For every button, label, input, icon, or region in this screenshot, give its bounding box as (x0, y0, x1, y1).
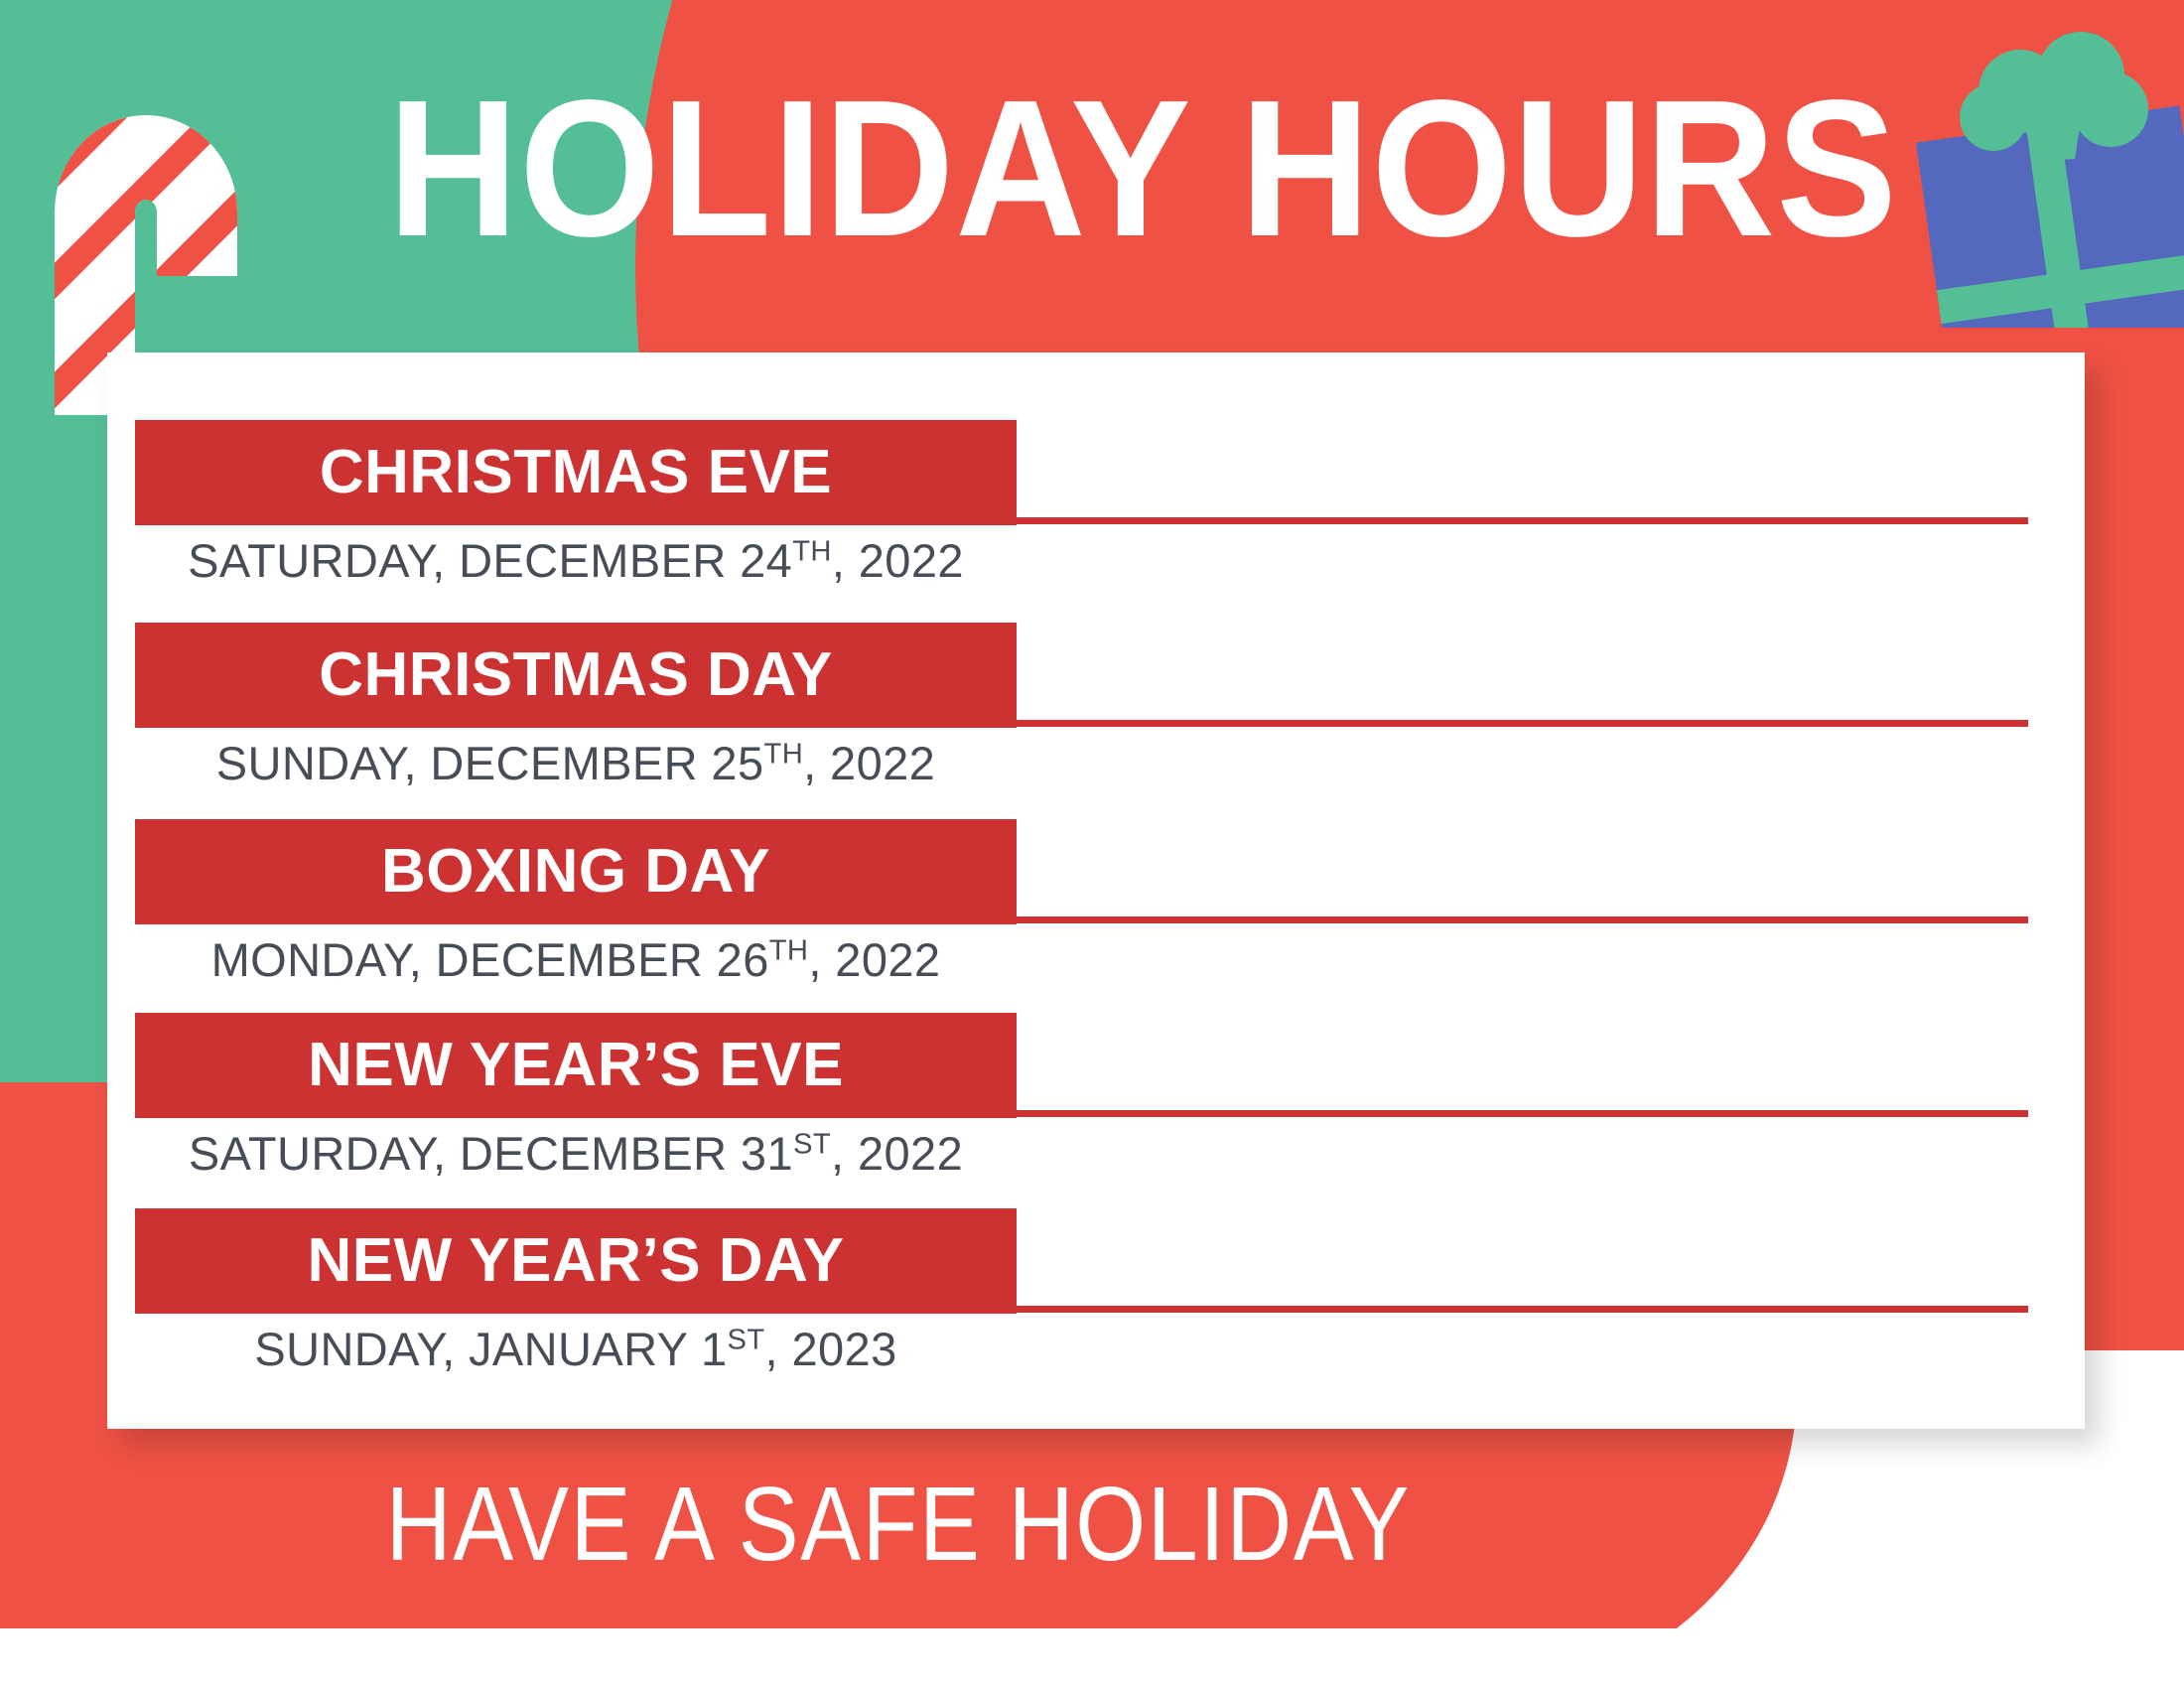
row-holiday-label: NEW YEAR’S EVE (308, 1035, 844, 1096)
row-date: MONDAY, DECEMBER 26TH, 2022 (135, 934, 1017, 986)
row-holiday-label: BOXING DAY (381, 841, 770, 903)
row-date-tail: , 2022 (832, 534, 964, 587)
schedule-row: BOXING DAY MONDAY, DECEMBER 26TH, 2022 (107, 819, 2085, 1014)
row-date-tail: , 2022 (808, 933, 940, 986)
row-date: SATURDAY, DECEMBER 31ST, 2022 (135, 1128, 1017, 1180)
row-date-ordinal: ST (793, 1128, 831, 1160)
row-date: SUNDAY, JANUARY 1ST, 2023 (135, 1324, 1017, 1375)
page-title: HOLIDAY HOURS (76, 71, 2108, 266)
row-date-prefix: SATURDAY, DECEMBER 31 (189, 1127, 793, 1180)
background-white-bottom-strip (0, 1628, 2184, 1688)
row-date: SUNDAY, DECEMBER 25TH, 2022 (135, 738, 1017, 789)
row-date-ordinal: TH (792, 535, 832, 567)
holiday-hours-poster: HOLIDAY HOURS CHRISTMAS EVE SATURDAY, DE… (0, 0, 2184, 1688)
schedule-row: CHRISTMAS DAY SUNDAY, DECEMBER 25TH, 202… (107, 623, 2085, 817)
schedule-card: CHRISTMAS EVE SATURDAY, DECEMBER 24TH, 2… (107, 352, 2085, 1429)
row-banner: NEW YEAR’S EVE (135, 1013, 1017, 1118)
schedule-row: NEW YEAR’S EVE SATURDAY, DECEMBER 31ST, … (107, 1013, 2085, 1207)
row-date-prefix: SATURDAY, DECEMBER 24 (188, 534, 792, 587)
row-date-tail: , 2022 (831, 1127, 963, 1180)
row-banner: BOXING DAY (135, 819, 1017, 924)
row-date-ordinal: TH (764, 738, 804, 770)
row-date: SATURDAY, DECEMBER 24TH, 2022 (135, 535, 1017, 587)
row-date-prefix: SUNDAY, DECEMBER 25 (216, 737, 764, 789)
row-holiday-label: NEW YEAR’S DAY (307, 1230, 844, 1292)
row-banner: NEW YEAR’S DAY (135, 1208, 1017, 1314)
row-holiday-label: CHRISTMAS DAY (319, 644, 833, 706)
row-date-ordinal: ST (728, 1324, 765, 1355)
row-banner: CHRISTMAS DAY (135, 623, 1017, 728)
row-date-ordinal: TH (769, 934, 809, 966)
schedule-row: CHRISTMAS EVE SATURDAY, DECEMBER 24TH, 2… (107, 420, 2085, 615)
row-date-tail: , 2023 (765, 1323, 897, 1375)
schedule-rows: CHRISTMAS EVE SATURDAY, DECEMBER 24TH, 2… (107, 352, 2085, 1429)
row-banner: CHRISTMAS EVE (135, 420, 1017, 525)
row-date-prefix: MONDAY, DECEMBER 26 (211, 933, 769, 986)
row-holiday-label: CHRISTMAS EVE (320, 442, 832, 503)
schedule-row: NEW YEAR’S DAY SUNDAY, JANUARY 1ST, 2023 (107, 1208, 2085, 1403)
row-date-prefix: SUNDAY, JANUARY 1 (254, 1323, 727, 1375)
footer-message: HAVE A SAFE HOLIDAY (126, 1472, 1672, 1577)
row-date-tail: , 2022 (803, 737, 935, 789)
